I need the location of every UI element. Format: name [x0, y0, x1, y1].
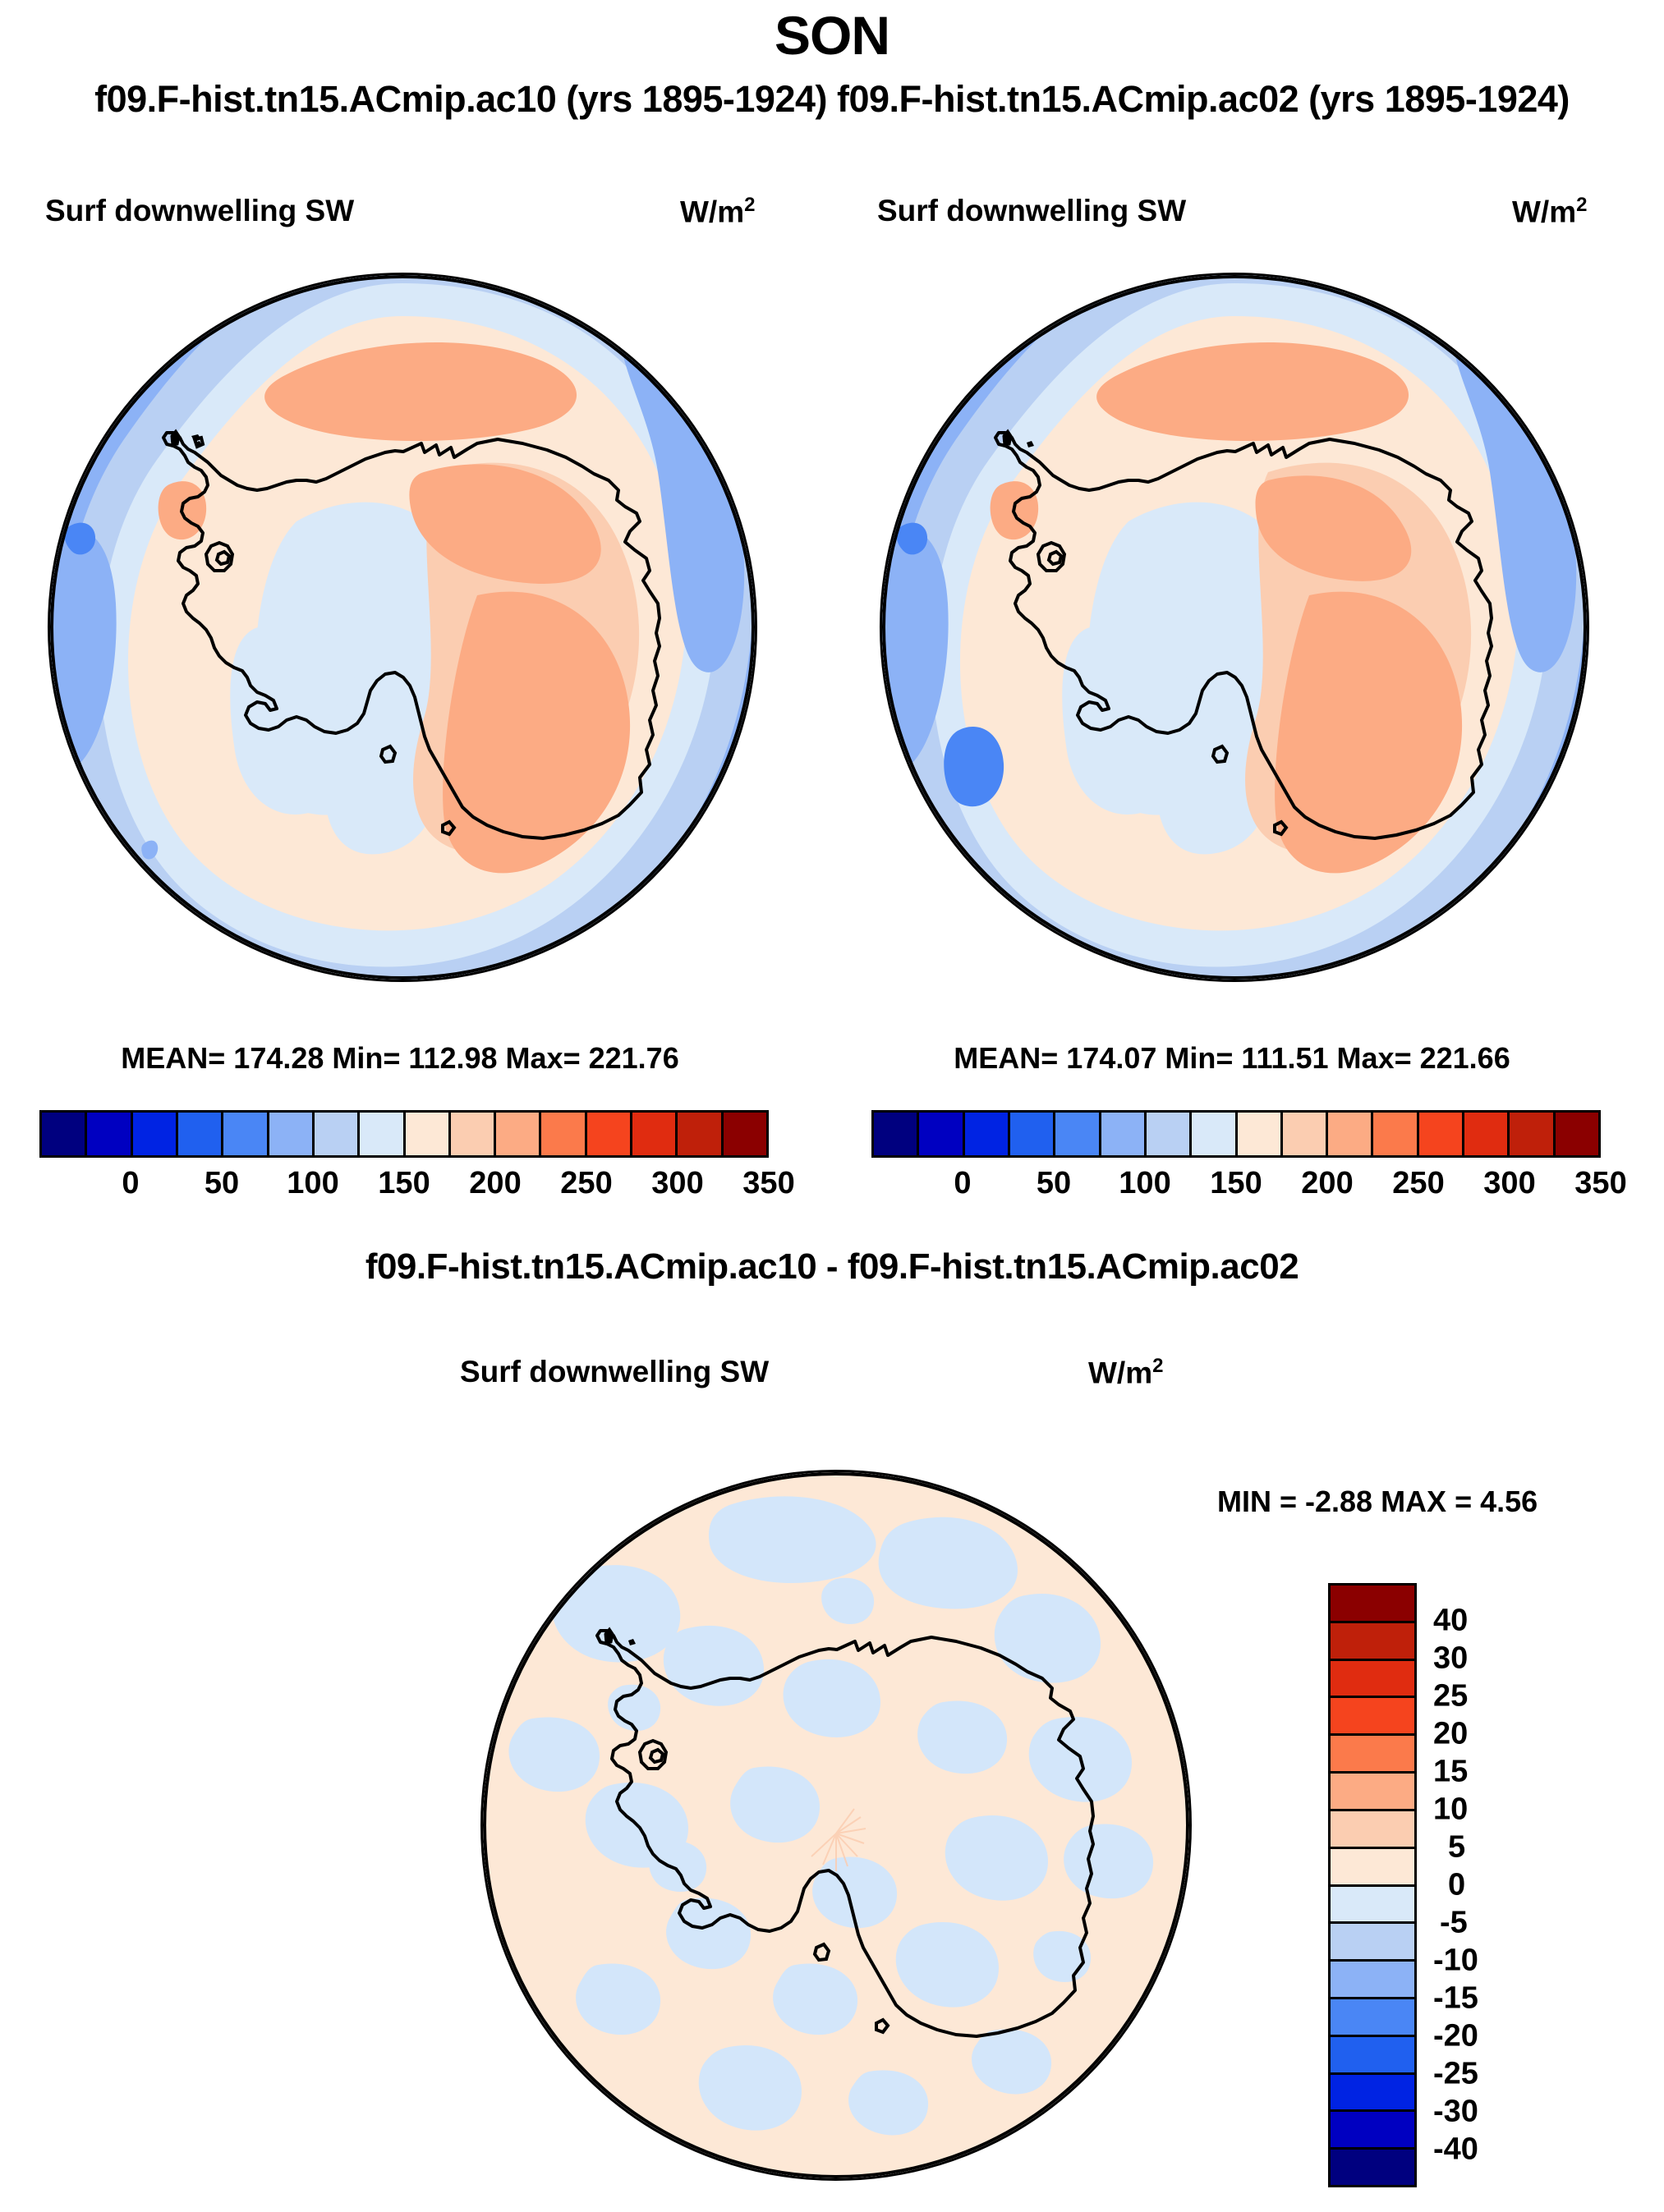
colorbar-tick: 100 — [1119, 1166, 1170, 1201]
colorbar-tick: -5 — [1440, 1906, 1468, 1941]
colorbar-cell — [1147, 1113, 1192, 1155]
colorbar-cell — [965, 1113, 1010, 1155]
colorbar-tick: -15 — [1433, 1981, 1478, 2017]
colorbar-tick: 50 — [205, 1166, 239, 1201]
colorbar-cell — [223, 1113, 269, 1155]
diff-units-exponent: 2 — [1152, 1355, 1163, 1377]
colorbar-tick: -10 — [1433, 1944, 1478, 1979]
colorbar-tick: 0 — [122, 1166, 139, 1201]
colorbar-cell — [1331, 1736, 1414, 1774]
subtitle-case-names: f09.F-hist.tn15.ACmip.ac10 (yrs 1895-192… — [0, 78, 1664, 121]
right-colorbar[interactable] — [871, 1110, 1601, 1158]
colorbar-tick: 300 — [1483, 1166, 1535, 1201]
colorbar-tick: 0 — [954, 1166, 971, 1201]
colorbar-cell — [1283, 1113, 1328, 1155]
left-map-globe[interactable] — [48, 273, 757, 982]
left-units-text: W/m — [680, 195, 744, 228]
colorbar-cell — [496, 1113, 541, 1155]
colorbar-cell — [1331, 1962, 1414, 1999]
right-units-exponent: 2 — [1576, 194, 1587, 216]
colorbar-tick: 40 — [1433, 1604, 1468, 1639]
colorbar-cell — [919, 1113, 964, 1155]
colorbar-cell — [1556, 1113, 1598, 1155]
colorbar-cell — [1331, 1999, 1414, 2037]
colorbar-tick: 250 — [560, 1166, 612, 1201]
colorbar-cell — [1328, 1113, 1373, 1155]
colorbar-cell — [315, 1113, 360, 1155]
colorbar-cell — [406, 1113, 451, 1155]
difference-colorbar-ticks: 40 30 25 20 15 10 5 0 -5 -10 -15 -20 -25… — [1433, 1583, 1597, 2187]
colorbar-tick: 150 — [378, 1166, 430, 1201]
colorbar-cell — [1331, 1623, 1414, 1661]
colorbar-cell — [1055, 1113, 1101, 1155]
colorbar-cell — [678, 1113, 723, 1155]
difference-minmax: MIN = -2.88 MAX = 4.56 — [1217, 1485, 1538, 1519]
colorbar-cell — [1010, 1113, 1055, 1155]
colorbar-tick: 150 — [1210, 1166, 1262, 1201]
right-panel-units: W/m2 — [1512, 194, 1587, 229]
colorbar-tick: 15 — [1433, 1755, 1468, 1790]
colorbar-tick: 0 — [1448, 1868, 1465, 1903]
left-colorbar[interactable] — [39, 1110, 769, 1158]
colorbar-tick: -25 — [1433, 2057, 1478, 2092]
colorbar-tick: 5 — [1448, 1830, 1465, 1866]
colorbar-tick: 200 — [1301, 1166, 1353, 1201]
colorbar-tick: 30 — [1433, 1641, 1468, 1677]
colorbar-tick: 10 — [1433, 1792, 1468, 1828]
colorbar-tick: 350 — [1574, 1166, 1626, 1201]
colorbar-cell — [1331, 1774, 1414, 1811]
right-map-contours — [882, 275, 1587, 980]
left-colorbar-ticks: 0 50 100 150 200 250 300 350 — [39, 1166, 769, 1207]
colorbar-tick: -30 — [1433, 2095, 1478, 2130]
colorbar-cell — [1331, 1698, 1414, 1736]
colorbar-cell — [1331, 1586, 1414, 1623]
colorbar-tick: 300 — [651, 1166, 703, 1201]
colorbar-cell — [1331, 1924, 1414, 1962]
colorbar-tick: 50 — [1037, 1166, 1071, 1201]
colorbar-tick: 350 — [742, 1166, 794, 1201]
colorbar-tick: 100 — [287, 1166, 338, 1201]
left-units-exponent: 2 — [744, 194, 755, 216]
difference-colorbar[interactable] — [1328, 1583, 1417, 2187]
left-map-contours — [50, 275, 755, 980]
colorbar-cell — [541, 1113, 586, 1155]
colorbar-tick: 25 — [1433, 1679, 1468, 1714]
colorbar-cell — [724, 1113, 766, 1155]
colorbar-cell — [1192, 1113, 1237, 1155]
colorbar-tick: -40 — [1433, 2132, 1478, 2168]
colorbar-cell — [1101, 1113, 1147, 1155]
difference-variable-label: Surf downwelling SW — [460, 1355, 769, 1389]
colorbar-cell — [1331, 1811, 1414, 1849]
left-panel-units: W/m2 — [680, 194, 755, 229]
right-units-text: W/m — [1512, 195, 1576, 228]
colorbar-cell — [1331, 2037, 1414, 2075]
colorbar-cell — [1510, 1113, 1555, 1155]
colorbar-cell — [1419, 1113, 1464, 1155]
colorbar-cell — [1238, 1113, 1283, 1155]
left-panel-stats: MEAN= 174.28 Min= 112.98 Max= 221.76 — [48, 1041, 752, 1076]
diff-units-text: W/m — [1088, 1356, 1152, 1389]
colorbar-tick: 200 — [469, 1166, 521, 1201]
colorbar-cell — [1331, 1887, 1414, 1925]
colorbar-cell — [1464, 1113, 1510, 1155]
colorbar-cell — [632, 1113, 678, 1155]
difference-title: f09.F-hist.tn15.ACmip.ac10 - f09.F-hist.… — [0, 1246, 1664, 1287]
colorbar-cell — [451, 1113, 496, 1155]
colorbar-tick: 250 — [1392, 1166, 1444, 1201]
colorbar-cell — [42, 1113, 87, 1155]
colorbar-cell — [1331, 2150, 1414, 2185]
page-title: SON — [0, 4, 1664, 67]
difference-units: W/m2 — [1088, 1355, 1163, 1390]
right-panel-variable-label: Surf downwelling SW — [877, 194, 1186, 228]
colorbar-tick: -20 — [1433, 2019, 1478, 2054]
left-panel-variable-label: Surf downwelling SW — [45, 194, 354, 228]
colorbar-cell — [1373, 1113, 1418, 1155]
colorbar-cell — [133, 1113, 178, 1155]
colorbar-cell — [1331, 2075, 1414, 2113]
difference-map-contours — [483, 1472, 1189, 2178]
difference-map-globe[interactable] — [480, 1470, 1192, 2181]
colorbar-cell — [87, 1113, 132, 1155]
colorbar-cell — [269, 1113, 315, 1155]
right-colorbar-ticks: 0 50 100 150 200 250 300 350 — [871, 1166, 1601, 1207]
colorbar-cell — [360, 1113, 405, 1155]
colorbar-cell — [178, 1113, 223, 1155]
right-panel-stats: MEAN= 174.07 Min= 111.51 Max= 221.66 — [880, 1041, 1584, 1076]
colorbar-tick: 20 — [1433, 1717, 1468, 1752]
colorbar-cell — [1331, 1849, 1414, 1887]
right-map-globe[interactable] — [880, 273, 1589, 982]
colorbar-cell — [1331, 1661, 1414, 1699]
colorbar-cell — [1331, 2112, 1414, 2150]
colorbar-cell — [587, 1113, 632, 1155]
colorbar-cell — [874, 1113, 919, 1155]
